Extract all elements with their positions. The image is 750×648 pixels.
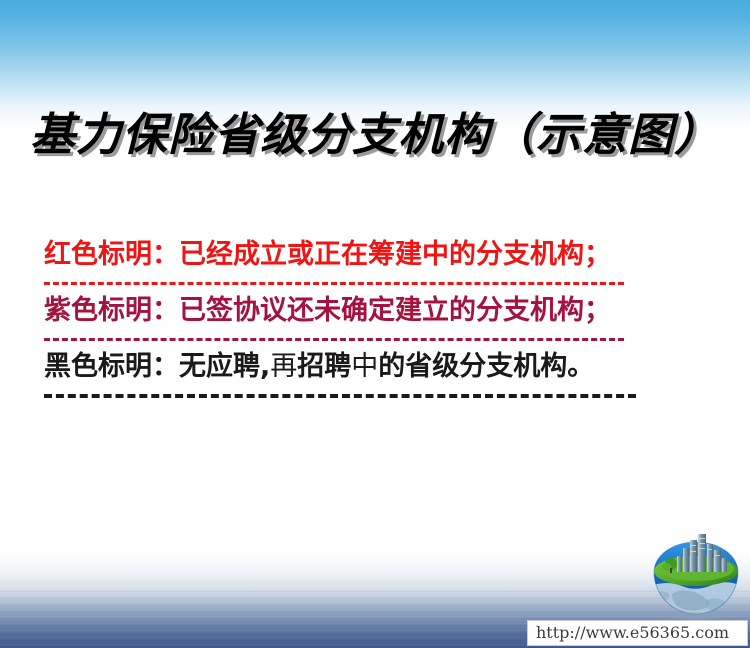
legend-block: 红色标明：已经成立或正在筹建中的分支机构； 紫色标明：已签协议还未确定建立的分支… (44, 236, 664, 404)
legend-divider-purple (44, 332, 664, 348)
city-buildings (677, 534, 727, 572)
legend-divider-red (44, 276, 664, 292)
watermark-box: http://www.e56365.com (527, 620, 748, 646)
dashed-rule-black (44, 394, 636, 398)
legend-description-black-part2: 招聘 (297, 351, 351, 382)
dashed-rule-purple (44, 338, 624, 341)
legend-description-black-part1: 无应聘, (179, 351, 270, 382)
legend-description-black-light2: 中 (351, 351, 378, 382)
legend-row-purple: 紫色标明：已签协议还未确定建立的分支机构； (44, 292, 664, 332)
legend-label-purple: 紫色标明： (44, 295, 179, 326)
legend-description-purple: 已签协议还未确定建立的分支机构； (179, 295, 611, 326)
legend-row-black: 黑色标明：无应聘,再招聘中的省级分支机构。 (44, 348, 664, 388)
legend-description-red: 已经成立或正在筹建中的分支机构； (179, 239, 611, 270)
legend-description-black-part3: 的省级分支机构。 (378, 351, 594, 382)
watermark-url: http://www.e56365.com (528, 621, 747, 645)
legend-text-purple: 紫色标明：已签协议还未确定建立的分支机构； (44, 292, 664, 330)
legend-description-black-light1: 再 (270, 351, 297, 382)
legend-label-black: 黑色标明： (44, 351, 179, 382)
logo-shadow (666, 612, 726, 620)
slide-canvas: 基力保险省级分支机构（示意图） 红色标明：已经成立或正在筹建中的分支机构； 紫色… (0, 0, 750, 648)
legend-divider-black (44, 388, 664, 404)
globe-city-logo-icon (648, 528, 744, 620)
legend-row-red: 红色标明：已经成立或正在筹建中的分支机构； (44, 236, 664, 276)
legend-text-black: 黑色标明：无应聘,再招聘中的省级分支机构。 (44, 348, 664, 386)
dashed-rule-red (44, 282, 624, 285)
legend-label-red: 红色标明： (44, 239, 179, 270)
page-title: 基力保险省级分支机构（示意图） (0, 98, 750, 163)
legend-text-red: 红色标明：已经成立或正在筹建中的分支机构； (44, 236, 664, 274)
